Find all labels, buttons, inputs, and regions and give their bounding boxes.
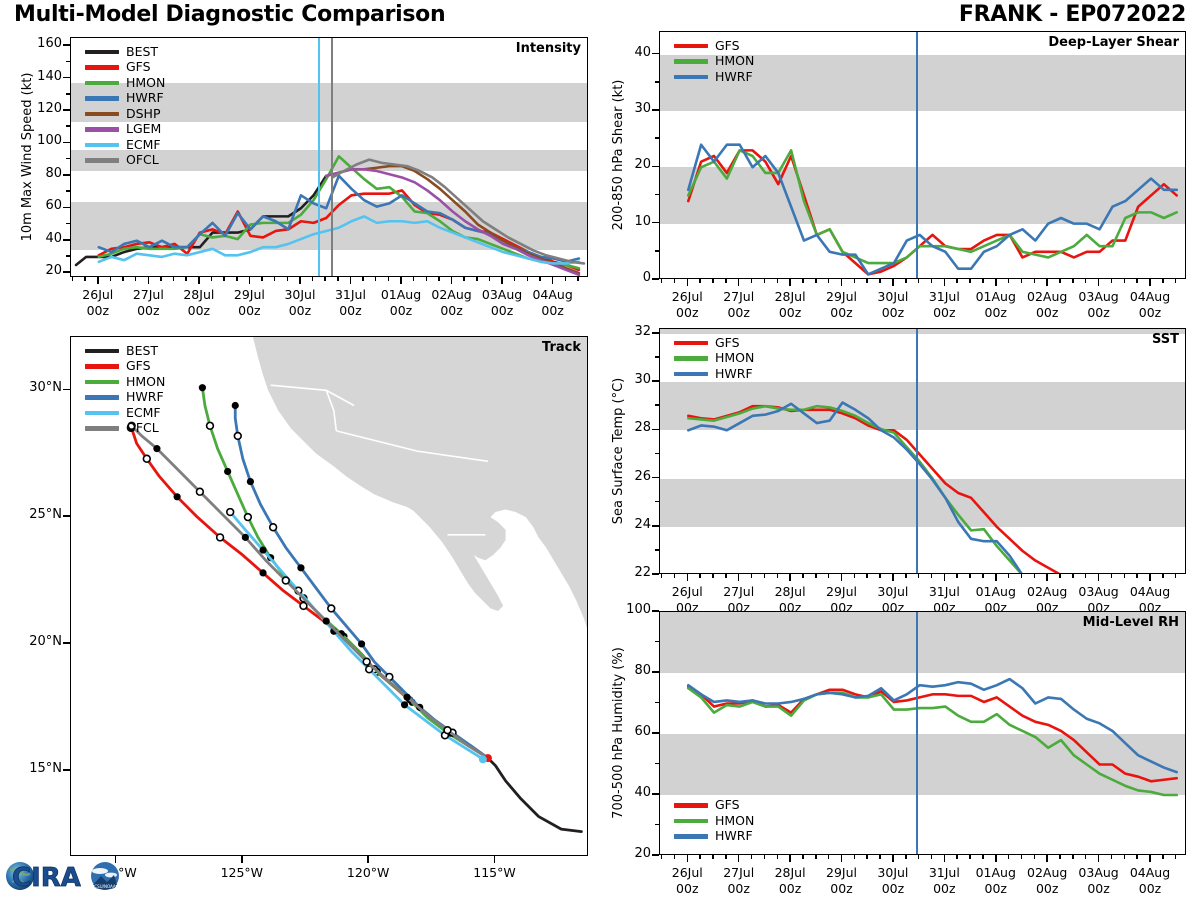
- xtick-minor: [362, 277, 364, 281]
- xtick-hour: 00z: [727, 305, 749, 320]
- xtick-hour: 00z: [390, 303, 412, 318]
- rh-ylabel: 700-500 hPa Humidity (%): [611, 647, 626, 819]
- legend-item-hmon[interactable]: HMON: [674, 54, 754, 70]
- track-marker-12z: [196, 488, 203, 495]
- xtick-mark: [995, 855, 997, 862]
- track-marker-00z: [242, 534, 249, 541]
- xtick-day: 04Aug: [532, 287, 572, 302]
- xtick-minor: [261, 277, 263, 281]
- series-lgem: [326, 169, 579, 274]
- xtick-minor: [764, 574, 766, 578]
- panel-sst: SSTGFSHMONHWRF22242628303226Jul00z27Jul0…: [659, 328, 1186, 574]
- ofcl-init-line: [331, 38, 333, 276]
- xtick-minor: [982, 279, 984, 283]
- track-marker-00z: [401, 701, 408, 708]
- legend-label-gfs: GFS: [126, 61, 151, 74]
- xtick-minor: [905, 279, 907, 283]
- legend-item-hwrf[interactable]: HWRF: [85, 390, 165, 406]
- legend-swatch-gfs: [85, 65, 119, 70]
- rh-title: Mid-Level RH: [1083, 615, 1179, 630]
- xtick-minor: [879, 279, 881, 283]
- xtick-minor: [1111, 855, 1113, 859]
- xtick-minor: [699, 855, 701, 859]
- xtick-mark: [97, 277, 99, 284]
- ytick-minor: [655, 763, 659, 765]
- xtick-minor: [476, 277, 478, 281]
- ytick-minor: [655, 793, 659, 795]
- legend-item-gfs[interactable]: GFS: [85, 60, 165, 76]
- lon-tick-label: 115°W: [455, 865, 535, 881]
- xtick-minor: [699, 574, 701, 578]
- xtick-minor: [1034, 855, 1036, 859]
- xtick-minor: [712, 279, 714, 283]
- ytick-minor: [66, 158, 70, 160]
- xtick-minor: [854, 574, 856, 578]
- xtick-minor: [879, 855, 881, 859]
- track-marker-00z: [153, 445, 160, 452]
- xtick-mark: [350, 277, 352, 284]
- xtick-mark: [944, 574, 946, 581]
- ytick-minor: [655, 824, 659, 826]
- xtick-mark: [789, 279, 791, 286]
- init-line: [916, 612, 918, 854]
- legend-label-ecmf: ECMF: [126, 407, 161, 420]
- series-gfs: [99, 190, 579, 269]
- xtick-mark: [148, 277, 150, 284]
- xtick-minor: [185, 277, 187, 281]
- shear-plot-area: Deep-Layer ShearGFSHMONHWRF: [659, 31, 1186, 279]
- xtick-mark: [501, 277, 503, 284]
- legend-item-hmon[interactable]: HMON: [85, 374, 165, 390]
- ytick-minor: [655, 641, 659, 643]
- xtick-minor: [438, 277, 440, 281]
- xtick-mark: [198, 277, 200, 284]
- xtick-mark: [892, 279, 894, 286]
- track-marker-12z: [328, 605, 335, 612]
- xtick-minor: [854, 279, 856, 283]
- legend-swatch-hmon: [674, 59, 708, 64]
- xtick-minor: [1085, 574, 1087, 578]
- legend-label-gfs: GFS: [715, 337, 740, 350]
- xtick-minor: [815, 574, 817, 578]
- ytick-minor: [655, 332, 659, 334]
- xtick-hour: 00z: [830, 881, 852, 896]
- xtick-minor: [956, 279, 958, 283]
- xtick-minor: [866, 279, 868, 283]
- legend-label-lgem: LGEM: [126, 123, 161, 136]
- xtick-minor: [1175, 855, 1177, 859]
- xtick-hour: 00z: [830, 305, 852, 320]
- xtick-mark: [1149, 574, 1151, 581]
- xtick-mark: [1098, 279, 1100, 286]
- track-marker-12z: [244, 514, 251, 521]
- legend-label-gfs: GFS: [126, 360, 151, 373]
- xtick-minor: [1162, 279, 1164, 283]
- track-marker-00z: [174, 493, 181, 500]
- xtick-minor: [764, 279, 766, 283]
- track-marker-12z: [270, 524, 277, 531]
- xtick-mark: [249, 277, 251, 284]
- xtick-mark: [687, 855, 689, 862]
- xtick-minor: [1136, 574, 1138, 578]
- track-marker-12z: [227, 509, 234, 516]
- xtick-hour: 00z: [1036, 305, 1058, 320]
- xtick-minor: [751, 279, 753, 283]
- xtick-minor: [674, 855, 676, 859]
- legend-item-hwrf[interactable]: HWRF: [85, 91, 165, 107]
- xtick-hour: 00z: [933, 305, 955, 320]
- track-marker-00z: [259, 569, 266, 576]
- ytick-minor: [655, 278, 659, 280]
- legend-label-hwrf: HWRF: [126, 92, 164, 105]
- xtick-minor: [236, 277, 238, 281]
- xtick-mark: [1098, 855, 1100, 862]
- xtick-minor: [1021, 574, 1023, 578]
- ytick-minor: [66, 239, 70, 241]
- xtick-minor: [1008, 574, 1010, 578]
- ytick-minor: [655, 53, 659, 55]
- legend-item-best[interactable]: BEST: [85, 44, 165, 60]
- ytick-minor: [655, 610, 659, 612]
- xtick-minor: [1111, 279, 1113, 283]
- lat-tick-mark: [63, 389, 70, 391]
- legend: GFSHMONHWRF: [674, 335, 754, 382]
- track-marker-12z: [282, 577, 289, 584]
- legend-swatch-hwrf: [85, 395, 119, 400]
- xtick-mark: [841, 279, 843, 286]
- xtick-mark: [1046, 855, 1048, 862]
- panel-rh: Mid-Level RHGFSHMONHWRF2040608010026Jul0…: [659, 611, 1186, 855]
- xtick-minor: [565, 277, 567, 281]
- xtick-minor: [122, 277, 124, 281]
- legend: GFSHMONHWRF: [674, 798, 754, 845]
- legend-item-hmon[interactable]: HMON: [674, 813, 754, 829]
- legend-label-ecmf: ECMF: [126, 139, 161, 152]
- ecmf-init-line: [318, 38, 320, 276]
- xtick-hour: 00z: [1087, 305, 1109, 320]
- xtick-mark: [687, 279, 689, 286]
- legend-label-hwrf: HWRF: [715, 368, 753, 381]
- xtick-minor: [969, 855, 971, 859]
- ytick-minor: [655, 453, 659, 455]
- legend-swatch-ofcl: [85, 426, 119, 431]
- xtick-minor: [1085, 279, 1087, 283]
- xtick-minor: [956, 574, 958, 578]
- ytick-minor: [66, 44, 70, 46]
- legend-label-hwrf: HWRF: [715, 71, 753, 84]
- xtick-hour: 00z: [87, 303, 109, 318]
- xtick-day: 04Aug: [1130, 865, 1170, 880]
- xtick-minor: [463, 277, 465, 281]
- shear-ylabel: 200-850 hPa Shear (kt): [611, 80, 626, 231]
- panel-shear: Deep-Layer ShearGFSHMONHWRF01020304026Ju…: [659, 31, 1186, 279]
- legend-item-lgem[interactable]: LGEM: [85, 122, 165, 138]
- xtick-minor: [828, 574, 830, 578]
- xtick-minor: [1085, 855, 1087, 859]
- xtick-minor: [375, 277, 377, 281]
- xtick-minor: [931, 574, 933, 578]
- xtick-mark: [1046, 574, 1048, 581]
- xtick-minor: [777, 855, 779, 859]
- legend-swatch-hmon: [674, 356, 708, 361]
- legend-item-ecmf[interactable]: ECMF: [85, 405, 165, 421]
- legend-item-dshp[interactable]: DSHP: [85, 106, 165, 122]
- xtick-minor: [918, 855, 920, 859]
- xtick-minor: [173, 277, 175, 281]
- xtick-minor: [699, 279, 701, 283]
- ytick-minor: [66, 174, 70, 176]
- xtick-minor: [725, 574, 727, 578]
- xtick-hour: 00z: [491, 303, 513, 318]
- track-marker-12z: [143, 455, 150, 462]
- xtick-minor: [712, 855, 714, 859]
- ytick-label: 160: [22, 36, 62, 51]
- xtick-minor: [918, 574, 920, 578]
- legend-item-gfs[interactable]: GFS: [85, 359, 165, 375]
- xtick-minor: [135, 277, 137, 281]
- xtick-mark: [789, 574, 791, 581]
- xtick-minor: [1059, 279, 1061, 283]
- xtick-mark: [451, 277, 453, 284]
- track-best: [488, 758, 581, 832]
- xtick-mark: [1098, 574, 1100, 581]
- legend-label-gfs: GFS: [715, 799, 740, 812]
- xtick-label: 04Aug00z: [1110, 289, 1190, 321]
- xtick-minor: [1136, 279, 1138, 283]
- ytick-minor: [655, 250, 659, 252]
- xtick-minor: [413, 277, 415, 281]
- track-title: Track: [542, 340, 581, 355]
- panel-intensity: IntensityBESTGFSHMONHWRFDSHPLGEMECMFOFCL…: [70, 37, 588, 277]
- xtick-mark: [841, 574, 843, 581]
- track-marker-00z: [297, 564, 304, 571]
- lat-tick-label: 30°N: [15, 380, 62, 395]
- xtick-minor: [777, 574, 779, 578]
- lon-tick-mark: [367, 856, 369, 863]
- xtick-minor: [337, 277, 339, 281]
- legend-label-ofcl: OFCL: [126, 422, 159, 435]
- xtick-hour: 00z: [1139, 881, 1161, 896]
- track-marker-00z: [403, 694, 410, 701]
- xtick-minor: [274, 277, 276, 281]
- xtick-minor: [223, 277, 225, 281]
- ytick-minor: [655, 549, 659, 551]
- xtick-minor: [982, 855, 984, 859]
- legend-item-ofcl[interactable]: OFCL: [85, 153, 165, 169]
- track-marker-12z: [300, 602, 307, 609]
- series-hwrf: [688, 403, 1022, 574]
- xtick-minor: [661, 279, 663, 283]
- legend-swatch-gfs: [674, 803, 708, 808]
- legend-swatch-hwrf: [85, 96, 119, 101]
- xtick-minor: [211, 277, 213, 281]
- ytick-label: 22: [611, 565, 651, 580]
- xtick-mark: [995, 574, 997, 581]
- track-marker-12z: [217, 534, 224, 541]
- ytick-minor: [655, 81, 659, 83]
- xtick-minor: [802, 855, 804, 859]
- ytick-minor: [655, 525, 659, 527]
- xtick-minor: [828, 279, 830, 283]
- ytick-label: 20: [611, 846, 651, 861]
- xtick-minor: [312, 277, 314, 281]
- ytick-minor: [655, 477, 659, 479]
- xtick-minor: [712, 574, 714, 578]
- ytick-minor: [66, 109, 70, 111]
- legend-item-gfs[interactable]: GFS: [674, 798, 754, 814]
- legend-label-best: BEST: [126, 46, 158, 59]
- xtick-minor: [527, 277, 529, 281]
- ytick-minor: [655, 166, 659, 168]
- xtick-hour: 00z: [541, 303, 563, 318]
- lon-tick-mark: [494, 856, 496, 863]
- legend-swatch-hwrf: [674, 372, 708, 377]
- intensity-plot-area: IntensityBESTGFSHMONHWRFDSHPLGEMECMFOFCL: [70, 37, 588, 277]
- xtick-minor: [802, 279, 804, 283]
- init-line: [916, 32, 918, 278]
- legend-item-hwrf[interactable]: HWRF: [674, 829, 754, 845]
- xtick-hour: 00z: [882, 881, 904, 896]
- legend-swatch-gfs: [85, 364, 119, 369]
- legend-item-gfs[interactable]: GFS: [674, 335, 754, 351]
- xtick-minor: [324, 277, 326, 281]
- legend-swatch-ecmf: [85, 411, 119, 416]
- panel-track: TrackBESTGFSHMONHWRFECMFOFCL30°N25°N20°N…: [70, 336, 588, 856]
- legend-item-ecmf[interactable]: ECMF: [85, 137, 165, 153]
- xtick-minor: [815, 279, 817, 283]
- xtick-hour: 00z: [882, 305, 904, 320]
- xtick-minor: [1008, 855, 1010, 859]
- xtick-minor: [514, 277, 516, 281]
- xtick-hour: 00z: [985, 881, 1007, 896]
- xtick-mark: [789, 855, 791, 862]
- lon-tick-mark: [241, 856, 243, 863]
- xtick-mark: [892, 855, 894, 862]
- intensity-ylabel: 10m Max Wind Speed (kt): [20, 73, 35, 242]
- xtick-minor: [931, 855, 933, 859]
- legend-swatch-ofcl: [85, 158, 119, 163]
- xtick-label: 04Aug00z: [513, 287, 593, 319]
- cira-logo: CIRA CSU/NOAA: [4, 855, 128, 897]
- legend-item-best[interactable]: BEST: [85, 343, 165, 359]
- series-hwrf: [688, 145, 1176, 275]
- ytick-minor: [66, 142, 70, 144]
- page-title-right: FRANK - EP072022: [959, 2, 1186, 27]
- legend-item-hwrf[interactable]: HWRF: [674, 69, 754, 85]
- legend-swatch-gfs: [674, 341, 708, 346]
- track-marker-00z: [323, 617, 330, 624]
- series-gfs: [688, 687, 1176, 782]
- xtick-hour: 00z: [933, 881, 955, 896]
- ytick-minor: [655, 732, 659, 734]
- lat-tick-label: 20°N: [15, 634, 62, 649]
- legend-item-gfs[interactable]: GFS: [674, 38, 754, 54]
- xtick-minor: [956, 855, 958, 859]
- xtick-minor: [725, 279, 727, 283]
- track-marker-12z: [207, 422, 214, 429]
- ytick-minor: [655, 671, 659, 673]
- lat-tick-label: 25°N: [15, 507, 62, 522]
- xtick-minor: [110, 277, 112, 281]
- xtick-mark: [400, 277, 402, 284]
- xtick-minor: [969, 279, 971, 283]
- ytick-minor: [66, 77, 70, 79]
- xtick-minor: [725, 855, 727, 859]
- xtick-hour: 00z: [238, 303, 260, 318]
- xtick-minor: [1021, 279, 1023, 283]
- ytick-minor: [655, 573, 659, 575]
- legend-item-ofcl[interactable]: OFCL: [85, 421, 165, 437]
- sst-ylabel: Sea Surface Temp (°C): [611, 378, 626, 525]
- xtick-minor: [969, 574, 971, 578]
- svg-text:CIRA: CIRA: [12, 863, 81, 893]
- xtick-minor: [539, 277, 541, 281]
- xtick-minor: [661, 855, 663, 859]
- lat-tick-mark: [63, 769, 70, 771]
- svg-text:CSU/NOAA: CSU/NOAA: [94, 884, 116, 889]
- xtick-minor: [931, 279, 933, 283]
- legend-label-hmon: HMON: [715, 815, 754, 828]
- xtick-minor: [1034, 279, 1036, 283]
- track-marker-00z: [224, 468, 231, 475]
- xtick-minor: [866, 855, 868, 859]
- ytick-minor: [66, 207, 70, 209]
- xtick-hour: 00z: [137, 303, 159, 318]
- legend-swatch-ecmf: [85, 143, 119, 148]
- xtick-hour: 00z: [289, 303, 311, 318]
- xtick-mark: [1046, 279, 1048, 286]
- xtick-minor: [1072, 855, 1074, 859]
- xtick-minor: [287, 277, 289, 281]
- legend-swatch-gfs: [674, 44, 708, 49]
- legend-swatch-dshp: [85, 112, 119, 117]
- series-hmon: [688, 688, 1176, 795]
- xtick-hour: 00z: [676, 305, 698, 320]
- xtick-day: 04Aug: [1130, 289, 1170, 304]
- xtick-minor: [72, 277, 74, 281]
- track-marker-00z: [247, 478, 254, 485]
- legend-item-hmon[interactable]: HMON: [674, 351, 754, 367]
- xtick-minor: [489, 277, 491, 281]
- lat-tick-mark: [63, 515, 70, 517]
- ytick-minor: [66, 190, 70, 192]
- xtick-mark: [1149, 279, 1151, 286]
- legend-item-hmon[interactable]: HMON: [85, 75, 165, 91]
- xtick-minor: [674, 279, 676, 283]
- rh-plot-area: Mid-Level RHGFSHMONHWRF: [659, 611, 1186, 855]
- lat-tick-label: 15°N: [15, 761, 62, 776]
- lon-tick-label: 125°W: [202, 865, 282, 881]
- xtick-mark: [738, 855, 740, 862]
- lat-tick-mark: [63, 642, 70, 644]
- ytick-minor: [66, 223, 70, 225]
- ytick-minor: [66, 255, 70, 257]
- page-title-left: Multi-Model Diagnostic Comparison: [14, 2, 445, 27]
- xtick-minor: [1162, 855, 1164, 859]
- xtick-minor: [1008, 279, 1010, 283]
- xtick-hour: 00z: [985, 305, 1007, 320]
- legend: BESTGFSHMONHWRFDSHPLGEMECMFOFCL: [85, 44, 165, 168]
- ytick-minor: [655, 702, 659, 704]
- legend-item-hwrf[interactable]: HWRF: [674, 366, 754, 382]
- xtick-mark: [738, 279, 740, 286]
- xtick-label: 04Aug00z: [1110, 865, 1190, 897]
- ytick-minor: [66, 61, 70, 63]
- xtick-minor: [426, 277, 428, 281]
- xtick-mark: [299, 277, 301, 284]
- xtick-mark: [995, 279, 997, 286]
- xtick-mark: [944, 279, 946, 286]
